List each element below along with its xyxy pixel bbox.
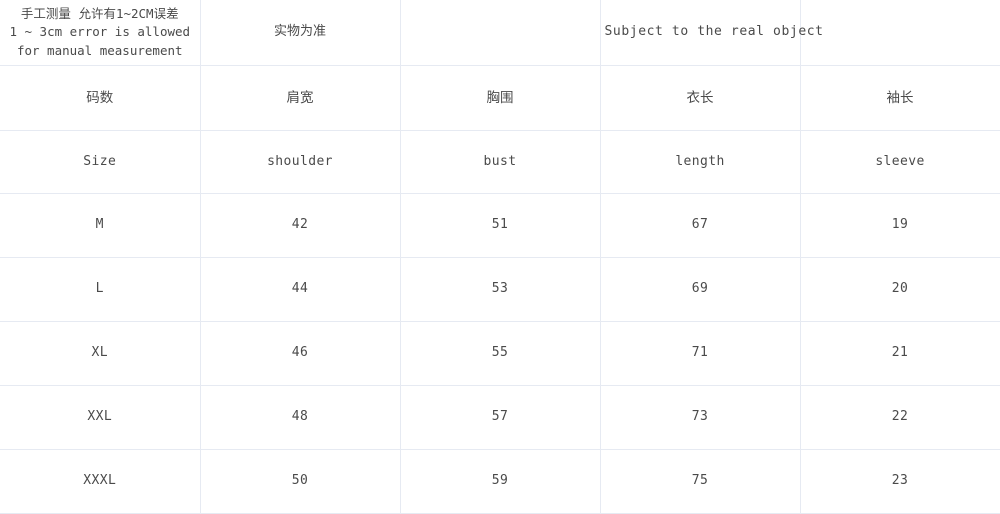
cell-length: 71: [600, 322, 800, 386]
header-en-length: length: [600, 131, 800, 194]
real-object-note-en: Subject to the real object: [600, 0, 800, 66]
header-en-sleeve: sleeve: [800, 131, 1000, 194]
measurement-note-en-line1: 1 ~ 3cm error is allowed: [2, 23, 198, 41]
header-en-bust: bust: [400, 131, 600, 194]
cell-size: XXL: [0, 386, 200, 450]
cell-sleeve: 21: [800, 322, 1000, 386]
measurement-note-en-line2: for manual measurement: [2, 42, 198, 60]
table-row: M 42 51 67 19: [0, 194, 1000, 258]
cell-shoulder: 44: [200, 258, 400, 322]
header-en-shoulder: shoulder: [200, 131, 400, 194]
cell-length: 69: [600, 258, 800, 322]
header-cn-bust: 胸围: [400, 66, 600, 131]
header-row-chinese: 码数 肩宽 胸围 衣长 袖长: [0, 66, 1000, 131]
note-row-empty-cell-2: [800, 0, 1000, 66]
cell-shoulder: 46: [200, 322, 400, 386]
cell-shoulder: 42: [200, 194, 400, 258]
cell-bust: 53: [400, 258, 600, 322]
cell-sleeve: 19: [800, 194, 1000, 258]
header-row-english: Size shoulder bust length sleeve: [0, 131, 1000, 194]
header-cn-size: 码数: [0, 66, 200, 131]
cell-size: M: [0, 194, 200, 258]
cell-length: 67: [600, 194, 800, 258]
real-object-note-cn: 实物为准: [200, 0, 400, 66]
cell-size: XL: [0, 322, 200, 386]
cell-sleeve: 23: [800, 450, 1000, 514]
cell-shoulder: 50: [200, 450, 400, 514]
table-row: L 44 53 69 20: [0, 258, 1000, 322]
cell-bust: 55: [400, 322, 600, 386]
cell-length: 73: [600, 386, 800, 450]
table-row: XXL 48 57 73 22: [0, 386, 1000, 450]
measurement-note-cn: 手工测量 允许有1~2CM误差: [2, 5, 198, 23]
header-cn-sleeve: 袖长: [800, 66, 1000, 131]
table-row: XL 46 55 71 21: [0, 322, 1000, 386]
cell-sleeve: 20: [800, 258, 1000, 322]
note-row-empty-cell-1: [400, 0, 600, 66]
cell-bust: 57: [400, 386, 600, 450]
measurement-note-cell: 手工测量 允许有1~2CM误差 1 ~ 3cm error is allowed…: [0, 0, 200, 66]
cell-shoulder: 48: [200, 386, 400, 450]
measurement-note-row: 手工测量 允许有1~2CM误差 1 ~ 3cm error is allowed…: [0, 0, 1000, 66]
cell-size: XXXL: [0, 450, 200, 514]
size-chart-table: 手工测量 允许有1~2CM误差 1 ~ 3cm error is allowed…: [0, 0, 1000, 514]
cell-bust: 59: [400, 450, 600, 514]
header-cn-length: 衣长: [600, 66, 800, 131]
table-row: XXXL 50 59 75 23: [0, 450, 1000, 514]
cell-length: 75: [600, 450, 800, 514]
cell-sleeve: 22: [800, 386, 1000, 450]
header-en-size: Size: [0, 131, 200, 194]
cell-bust: 51: [400, 194, 600, 258]
cell-size: L: [0, 258, 200, 322]
header-cn-shoulder: 肩宽: [200, 66, 400, 131]
